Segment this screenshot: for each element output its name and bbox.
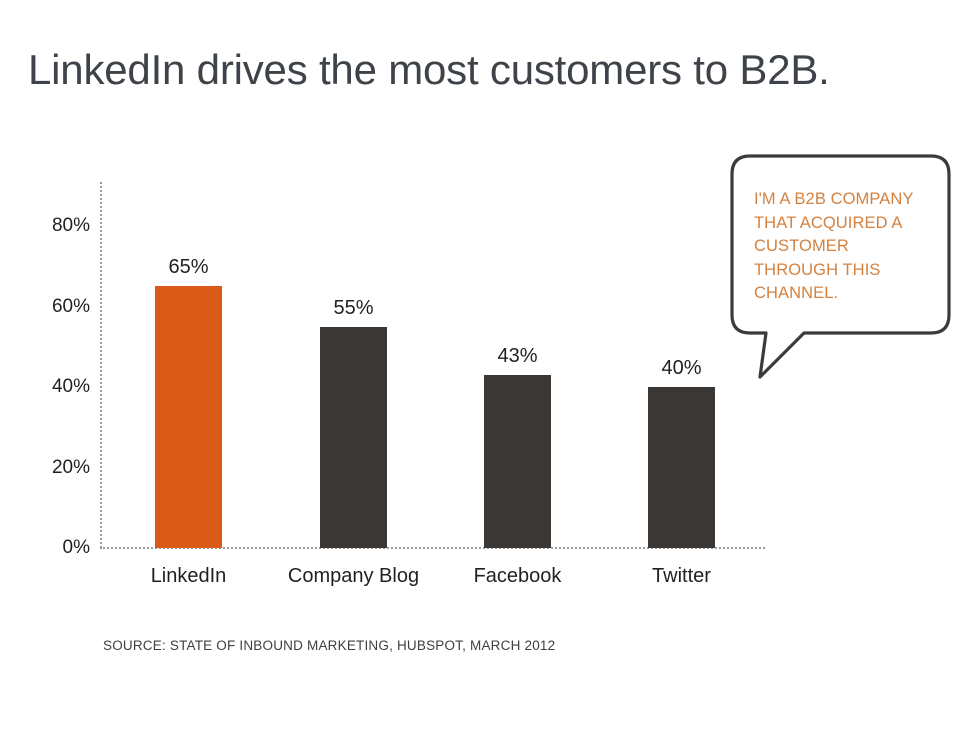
- bar-group[interactable]: 65%: [155, 286, 222, 548]
- bar-value-label: 43%: [497, 345, 537, 368]
- bar-highlighted[interactable]: [155, 286, 222, 548]
- x-axis-category-label: Company Blog: [288, 565, 419, 588]
- x-axis-category-label: LinkedIn: [151, 565, 227, 588]
- bar-value-label: 65%: [168, 256, 208, 279]
- slide-canvas: LinkedIn drives the most customers to B2…: [0, 0, 975, 732]
- bar-group[interactable]: 55%: [320, 327, 387, 548]
- callout-speech-bubble: I'M A B2B COMPANY THAT ACQUIRED A CUSTOM…: [732, 156, 949, 334]
- x-axis-category-label: Facebook: [474, 565, 562, 588]
- bar-group[interactable]: 43%: [484, 375, 551, 548]
- bar-value-label: 55%: [333, 297, 373, 320]
- callout-text: I'M A B2B COMPANY THAT ACQUIRED A CUSTOM…: [754, 188, 936, 306]
- source-note: SOURCE: STATE OF INBOUND MARKETING, HUBS…: [103, 638, 555, 653]
- bar[interactable]: [320, 327, 387, 548]
- x-axis-category-label: Twitter: [652, 565, 711, 588]
- bar[interactable]: [484, 375, 551, 548]
- bar-group[interactable]: 40%: [648, 387, 715, 548]
- bar[interactable]: [648, 387, 715, 548]
- bar-value-label: 40%: [661, 357, 701, 380]
